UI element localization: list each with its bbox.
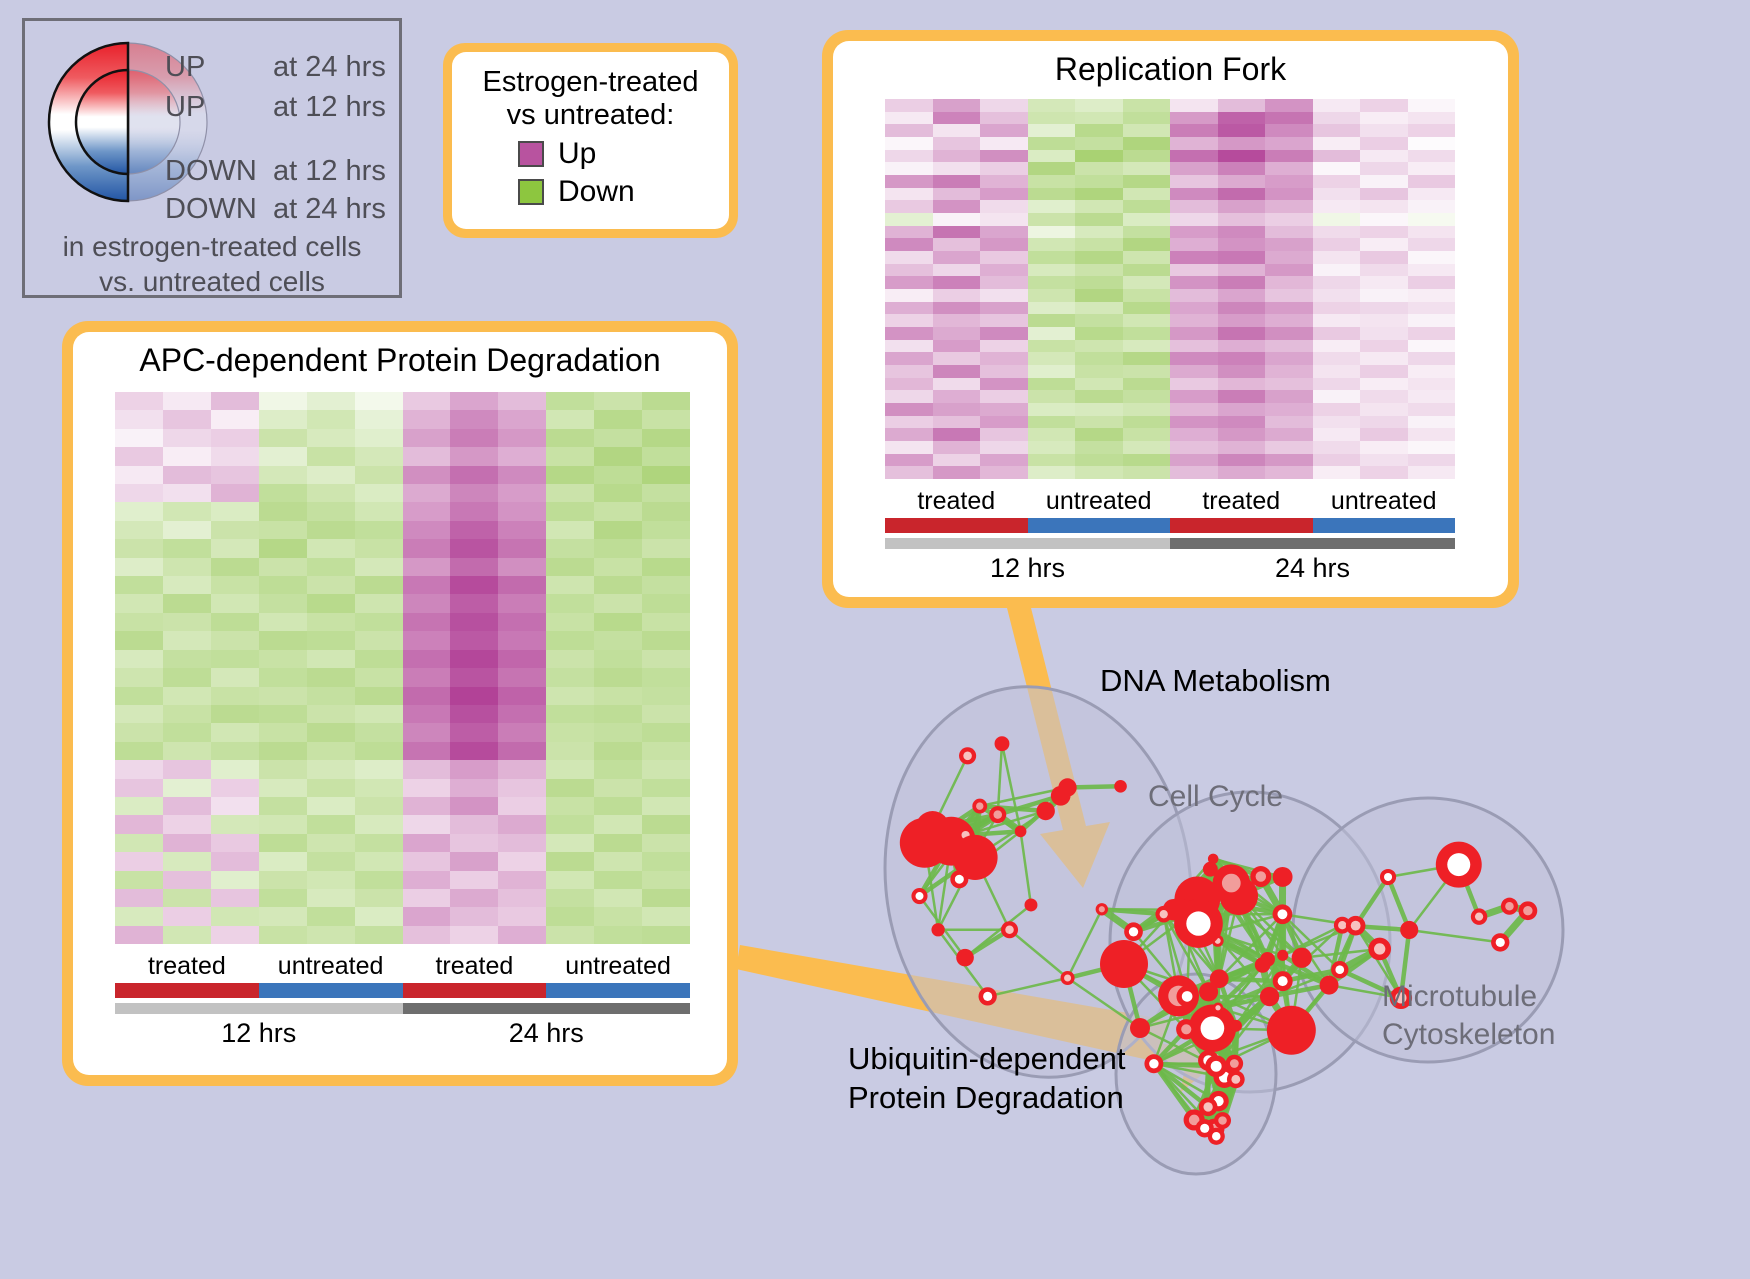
network-node[interactable] bbox=[1273, 867, 1293, 887]
heatmap-cell bbox=[1360, 162, 1408, 175]
network-node[interactable] bbox=[1208, 854, 1219, 865]
heatmap-cell bbox=[1075, 276, 1123, 289]
heatmap-cell bbox=[1265, 213, 1313, 226]
heatmap-row bbox=[115, 760, 690, 778]
heatmap-cell bbox=[259, 558, 307, 576]
cluster-label-ubiquitin-line1: Ubiquitin-dependent bbox=[848, 1040, 1126, 1079]
heatmap-cell bbox=[980, 150, 1028, 163]
heatmap-cell bbox=[1075, 416, 1123, 429]
heatmap-cell bbox=[211, 760, 259, 778]
heatmap-cell bbox=[307, 594, 355, 612]
heatmap-row bbox=[115, 521, 690, 539]
heatmap-cell bbox=[1408, 365, 1456, 378]
heatmap-cell bbox=[259, 631, 307, 649]
heatmap-cell bbox=[642, 410, 690, 428]
heatmap-cell bbox=[1408, 150, 1456, 163]
heatmap-cell bbox=[980, 200, 1028, 213]
network-node-core bbox=[1505, 902, 1514, 911]
heatmap-cell bbox=[1123, 466, 1171, 479]
heatmap-cell bbox=[115, 429, 163, 447]
heatmap-cell bbox=[1360, 340, 1408, 353]
heatmap-cell bbox=[1123, 162, 1171, 175]
heatmap-row bbox=[115, 926, 690, 944]
heatmap-cell bbox=[1360, 466, 1408, 479]
heatmap-cell bbox=[1265, 200, 1313, 213]
heatmap-cell bbox=[498, 594, 546, 612]
heatmap-cell bbox=[1075, 124, 1123, 137]
network-node-core bbox=[1335, 965, 1344, 974]
heatmap-cell bbox=[1123, 365, 1171, 378]
heatmap-cell bbox=[403, 687, 451, 705]
heatmap-row bbox=[115, 429, 690, 447]
heatmap-cell bbox=[1313, 150, 1361, 163]
heatmap-cell bbox=[259, 907, 307, 925]
heatmap-cell bbox=[594, 392, 642, 410]
heatmap-row bbox=[885, 264, 1455, 277]
heatmap-cell bbox=[1360, 188, 1408, 201]
heatmap-cell bbox=[1075, 213, 1123, 226]
network-node-core bbox=[983, 992, 992, 1001]
heatmap-cell bbox=[355, 466, 403, 484]
heatmap-cell bbox=[1218, 454, 1266, 467]
heatmap-cell bbox=[594, 466, 642, 484]
network-node[interactable] bbox=[1230, 1020, 1242, 1032]
heatmap-cell bbox=[1075, 175, 1123, 188]
heatmap-cell bbox=[933, 454, 981, 467]
axis-group-label: treated bbox=[885, 487, 1028, 516]
heatmap-cell bbox=[211, 779, 259, 797]
heatmap-cell bbox=[594, 576, 642, 594]
heatmap-cell bbox=[163, 834, 211, 852]
heatmap-cell bbox=[1313, 466, 1361, 479]
heatmap-cell bbox=[642, 392, 690, 410]
heatmap-cell bbox=[933, 264, 981, 277]
heatmap-cell bbox=[498, 760, 546, 778]
axis-group-bar bbox=[115, 983, 259, 998]
heatmap-cell bbox=[115, 871, 163, 889]
heatmap-cell bbox=[594, 650, 642, 668]
heatmap-cell bbox=[933, 352, 981, 365]
heatmap-cell bbox=[115, 576, 163, 594]
heatmap-cell bbox=[642, 742, 690, 760]
heatmap-cell bbox=[450, 576, 498, 594]
panel-title-replication-fork: Replication Fork bbox=[833, 41, 1508, 88]
heatmap-cell bbox=[163, 723, 211, 741]
heatmap-cell bbox=[1075, 289, 1123, 302]
heatmap-cell bbox=[1028, 226, 1076, 239]
heatmap-cell bbox=[1028, 428, 1076, 441]
heatmap-cell bbox=[1170, 188, 1218, 201]
axis-group-label: treated bbox=[115, 952, 259, 981]
heatmap-cell bbox=[594, 907, 642, 925]
heatmap-cell bbox=[980, 403, 1028, 416]
heatmap-cell bbox=[450, 852, 498, 870]
heatmap-cell bbox=[498, 447, 546, 465]
heatmap-cell bbox=[980, 264, 1028, 277]
heatmap-cell bbox=[1123, 428, 1171, 441]
heatmap-cell bbox=[307, 631, 355, 649]
heatmap-cell bbox=[211, 466, 259, 484]
heatmap-cell bbox=[980, 276, 1028, 289]
axis-time-label: 12 hrs bbox=[885, 553, 1170, 584]
heatmap-cell bbox=[885, 289, 933, 302]
heatmap-cell bbox=[980, 454, 1028, 467]
heatmap-cell bbox=[211, 889, 259, 907]
network-node-core bbox=[1005, 925, 1014, 934]
heatmap-cell bbox=[1123, 175, 1171, 188]
heatmap-cell bbox=[115, 650, 163, 668]
heatmap-cell bbox=[307, 410, 355, 428]
axis-group-bar bbox=[885, 518, 1028, 533]
heatmap-cell bbox=[933, 162, 981, 175]
heatmap-cell bbox=[1408, 188, 1456, 201]
heatmap-cell bbox=[1360, 327, 1408, 340]
network-node[interactable] bbox=[1036, 802, 1054, 820]
network-node[interactable] bbox=[1292, 948, 1312, 968]
heatmap-cell bbox=[1313, 213, 1361, 226]
heatmap-cell bbox=[885, 175, 933, 188]
heatmap-row bbox=[115, 705, 690, 723]
heatmap-cell bbox=[1360, 390, 1408, 403]
heatmap-row bbox=[885, 238, 1455, 251]
key-time: at 12 hrs bbox=[273, 155, 386, 187]
network-node[interactable] bbox=[1277, 950, 1288, 961]
heatmap-cell bbox=[498, 576, 546, 594]
heatmap-cell bbox=[1265, 137, 1313, 150]
heatmap-cell bbox=[1170, 327, 1218, 340]
legend-label-up: Up bbox=[558, 137, 596, 171]
network-node[interactable] bbox=[1130, 1018, 1150, 1038]
heatmap-cell bbox=[1408, 200, 1456, 213]
heatmap-cell bbox=[1075, 390, 1123, 403]
heatmap-cell bbox=[642, 484, 690, 502]
key-row-up-24: UPat 24 hrs bbox=[165, 51, 386, 84]
heatmap-cell bbox=[1265, 390, 1313, 403]
heatmap-cell bbox=[355, 815, 403, 833]
heatmap-cell bbox=[211, 650, 259, 668]
network-node[interactable] bbox=[1255, 957, 1271, 973]
heatmap-cell bbox=[1028, 327, 1076, 340]
heatmap-cell bbox=[403, 484, 451, 502]
heatmap-cell bbox=[885, 454, 933, 467]
heatmap-cell bbox=[498, 392, 546, 410]
network-node[interactable] bbox=[1100, 940, 1148, 988]
heatmap-cell bbox=[403, 410, 451, 428]
heatmap-cell bbox=[594, 539, 642, 557]
heatmap-cell bbox=[1265, 454, 1313, 467]
heatmap-cell bbox=[1408, 175, 1456, 188]
heatmap-cell bbox=[1028, 200, 1076, 213]
axis-group-bar bbox=[403, 983, 547, 998]
heatmap-row bbox=[885, 99, 1455, 112]
heatmap-cell bbox=[115, 521, 163, 539]
heatmap-cell bbox=[307, 447, 355, 465]
heatmap-cell bbox=[885, 314, 933, 327]
heatmap-cell bbox=[115, 484, 163, 502]
network-node-core bbox=[1231, 1075, 1240, 1084]
heatmap-cell bbox=[498, 521, 546, 539]
heatmap-row bbox=[885, 314, 1455, 327]
key-row-up-12: UPat 12 hrs bbox=[165, 91, 386, 124]
heatmap-cell bbox=[885, 416, 933, 429]
network-node[interactable] bbox=[1320, 976, 1339, 995]
heatmap-cell bbox=[450, 558, 498, 576]
heatmap-cell bbox=[1075, 302, 1123, 315]
heatmap-row bbox=[115, 539, 690, 557]
heatmap-cell bbox=[933, 276, 981, 289]
heatmap-cell bbox=[1265, 112, 1313, 125]
heatmap-cell bbox=[1313, 238, 1361, 251]
heatmap-row bbox=[885, 112, 1455, 125]
heatmap-cell bbox=[546, 466, 594, 484]
heatmap-cell bbox=[1218, 150, 1266, 163]
heatmap-row bbox=[885, 390, 1455, 403]
heatmap-cell bbox=[1170, 251, 1218, 264]
heatmap-cell bbox=[1408, 276, 1456, 289]
heatmap-cell bbox=[403, 779, 451, 797]
heatmap-cell bbox=[642, 760, 690, 778]
heatmap-cell bbox=[1075, 466, 1123, 479]
heatmap-cell bbox=[1265, 264, 1313, 277]
cluster-label-microtubule-line1: Microtubule bbox=[1382, 978, 1555, 1016]
heatmap-cell bbox=[259, 723, 307, 741]
heatmap-cell bbox=[594, 889, 642, 907]
network-node[interactable] bbox=[956, 949, 974, 967]
heatmap-cell bbox=[885, 213, 933, 226]
network-node[interactable] bbox=[1400, 921, 1418, 939]
network-node-core bbox=[1278, 976, 1288, 986]
heatmap-cell bbox=[885, 302, 933, 315]
heatmap-cell bbox=[498, 797, 546, 815]
heatmap-cell bbox=[403, 392, 451, 410]
heatmap-cell bbox=[307, 705, 355, 723]
heatmap-cell bbox=[885, 352, 933, 365]
heatmap-cell bbox=[450, 815, 498, 833]
heatmap-cell bbox=[1170, 454, 1218, 467]
heatmap-cell bbox=[163, 502, 211, 520]
network-node[interactable] bbox=[1024, 899, 1037, 912]
heatmap-cell bbox=[1028, 378, 1076, 391]
heatmap-cell bbox=[1218, 390, 1266, 403]
heatmap-cell bbox=[1170, 302, 1218, 315]
network-node[interactable] bbox=[1114, 780, 1127, 793]
heatmap-cell bbox=[498, 705, 546, 723]
heatmap-cell bbox=[115, 410, 163, 428]
heatmap-cell bbox=[403, 889, 451, 907]
heatmap-cell bbox=[1360, 365, 1408, 378]
heatmap-cell bbox=[642, 613, 690, 631]
heatmap-cell bbox=[546, 650, 594, 668]
heatmap-cell bbox=[355, 558, 403, 576]
network-node[interactable] bbox=[1260, 987, 1279, 1006]
heatmap-cell bbox=[1408, 327, 1456, 340]
heatmap-cell bbox=[259, 576, 307, 594]
heatmap-cell bbox=[259, 760, 307, 778]
heatmap-cell bbox=[307, 926, 355, 944]
network-node[interactable] bbox=[1015, 826, 1027, 838]
color-key-footer-line2: vs. untreated cells bbox=[25, 264, 399, 299]
heatmap-cell bbox=[498, 668, 546, 686]
cluster-label-microtubule-line2: Cytoskeleton bbox=[1382, 1016, 1555, 1054]
heatmap-row bbox=[115, 834, 690, 852]
heatmap-cell bbox=[594, 594, 642, 612]
heatmap-cell bbox=[450, 907, 498, 925]
heatmap-cell bbox=[1170, 276, 1218, 289]
heatmap-cell bbox=[1028, 416, 1076, 429]
heatmap-cell bbox=[1360, 378, 1408, 391]
heatmap-cell bbox=[115, 797, 163, 815]
network-node[interactable] bbox=[1179, 881, 1198, 900]
heatmap-cell bbox=[355, 834, 403, 852]
heatmap-cell bbox=[1170, 238, 1218, 251]
heatmap-cell bbox=[163, 521, 211, 539]
heatmap-cell bbox=[498, 613, 546, 631]
heatmap-cell bbox=[259, 447, 307, 465]
heatmap-cell bbox=[355, 760, 403, 778]
network-node-core bbox=[1203, 1102, 1212, 1111]
heatmap-cell bbox=[115, 705, 163, 723]
heatmap-row bbox=[885, 124, 1455, 137]
heatmap-cell bbox=[546, 889, 594, 907]
heatmap-cell bbox=[307, 687, 355, 705]
heatmap-cell bbox=[1408, 466, 1456, 479]
heatmap-cell bbox=[450, 760, 498, 778]
heatmap-cell bbox=[211, 705, 259, 723]
protein-interaction-network[interactable] bbox=[780, 612, 1750, 1279]
heatmap-cell bbox=[1360, 454, 1408, 467]
heatmap-cell bbox=[211, 539, 259, 557]
heatmap-cell bbox=[933, 188, 981, 201]
heatmap-cell bbox=[1313, 137, 1361, 150]
heatmap-cell bbox=[307, 502, 355, 520]
heatmap-row bbox=[115, 631, 690, 649]
network-node-core bbox=[1447, 853, 1470, 876]
heatmap-cell bbox=[1360, 150, 1408, 163]
heatmap-cell bbox=[1265, 403, 1313, 416]
heatmap-cell bbox=[1075, 314, 1123, 327]
heatmap-cell bbox=[450, 668, 498, 686]
legend-label-down: Down bbox=[558, 175, 635, 209]
network-node[interactable] bbox=[931, 923, 944, 936]
heatmap-cell bbox=[980, 441, 1028, 454]
heatmap-cell bbox=[1313, 390, 1361, 403]
heatmap-cell bbox=[885, 226, 933, 239]
heatmap-cell bbox=[1360, 175, 1408, 188]
heatmap-cell bbox=[1360, 251, 1408, 264]
heatmap-cell bbox=[1075, 441, 1123, 454]
heatmap-cell bbox=[115, 742, 163, 760]
heatmap-cell bbox=[933, 390, 981, 403]
heatmap-cell bbox=[259, 594, 307, 612]
network-node-core bbox=[1099, 906, 1105, 912]
heatmap-cell bbox=[1408, 112, 1456, 125]
network-node[interactable] bbox=[1267, 1006, 1316, 1055]
heatmap-cell bbox=[980, 162, 1028, 175]
heatmap-cell bbox=[115, 447, 163, 465]
heatmap-cell bbox=[307, 650, 355, 668]
heatmap-cell bbox=[211, 392, 259, 410]
legend-swatch-down bbox=[518, 179, 544, 205]
heatmap-cell bbox=[163, 852, 211, 870]
heatmap-cell bbox=[1313, 340, 1361, 353]
heatmap-cell bbox=[594, 410, 642, 428]
heatmap-cell bbox=[403, 760, 451, 778]
axis-group-bar bbox=[259, 983, 403, 998]
heatmap-cell bbox=[498, 889, 546, 907]
heatmap-row bbox=[115, 742, 690, 760]
heatmap-cell bbox=[259, 410, 307, 428]
heatmap-cell bbox=[1123, 264, 1171, 277]
heatmap-cell bbox=[642, 466, 690, 484]
heatmap-cell bbox=[933, 378, 981, 391]
heatmap-cell bbox=[594, 613, 642, 631]
axis-apc: treateduntreatedtreateduntreated12 hrs24… bbox=[115, 952, 690, 1049]
heatmap-cell bbox=[163, 392, 211, 410]
heatmap-cell bbox=[1123, 150, 1171, 163]
heatmap-cell bbox=[1123, 238, 1171, 251]
heatmap-cell bbox=[1218, 200, 1266, 213]
heatmap-cell bbox=[1265, 162, 1313, 175]
heatmap-cell bbox=[163, 687, 211, 705]
heatmap-cell bbox=[1360, 213, 1408, 226]
heatmap-cell bbox=[259, 521, 307, 539]
network-node[interactable] bbox=[1199, 982, 1218, 1001]
heatmap-cell bbox=[546, 502, 594, 520]
heatmap-cell bbox=[1265, 175, 1313, 188]
heatmap-cell bbox=[1218, 302, 1266, 315]
network-node[interactable] bbox=[995, 736, 1010, 751]
heatmap-cell bbox=[498, 871, 546, 889]
heatmap-cell bbox=[1360, 403, 1408, 416]
color-key-footer-line1: in estrogen-treated cells bbox=[25, 229, 399, 264]
heatmap-cell bbox=[307, 797, 355, 815]
heatmap-cell bbox=[933, 238, 981, 251]
heatmap-cell bbox=[403, 631, 451, 649]
heatmap-cell bbox=[885, 264, 933, 277]
heatmap-cell bbox=[885, 124, 933, 137]
heatmap-cell bbox=[885, 365, 933, 378]
network-node[interactable] bbox=[1051, 786, 1071, 806]
heatmap-cell bbox=[1170, 124, 1218, 137]
network-node[interactable] bbox=[916, 811, 950, 845]
network-node[interactable] bbox=[953, 835, 998, 880]
heatmap-cell bbox=[307, 392, 355, 410]
axis-time-bar bbox=[885, 538, 1170, 549]
heatmap-row bbox=[885, 175, 1455, 188]
heatmap-cell bbox=[211, 797, 259, 815]
heatmap-cell bbox=[1313, 365, 1361, 378]
heatmap-cell bbox=[1123, 99, 1171, 112]
heatmap-cell bbox=[211, 410, 259, 428]
heatmap-cell bbox=[163, 797, 211, 815]
heatmap-cell bbox=[1075, 188, 1123, 201]
heatmap-cell bbox=[1265, 150, 1313, 163]
network-node-core bbox=[1186, 911, 1210, 935]
heatmap-cell bbox=[307, 779, 355, 797]
heatmap-row bbox=[115, 650, 690, 668]
heatmap-cell bbox=[259, 687, 307, 705]
heatmap-cell bbox=[450, 926, 498, 944]
heatmap-cell bbox=[307, 834, 355, 852]
heatmap-cell bbox=[594, 760, 642, 778]
heatmap-cell bbox=[211, 576, 259, 594]
heatmap-cell bbox=[594, 723, 642, 741]
heatmap-cell bbox=[1028, 454, 1076, 467]
heatmap-cell bbox=[1075, 99, 1123, 112]
heatmap-cell bbox=[1313, 175, 1361, 188]
heatmap-cell bbox=[450, 594, 498, 612]
heatmap-cell bbox=[115, 668, 163, 686]
